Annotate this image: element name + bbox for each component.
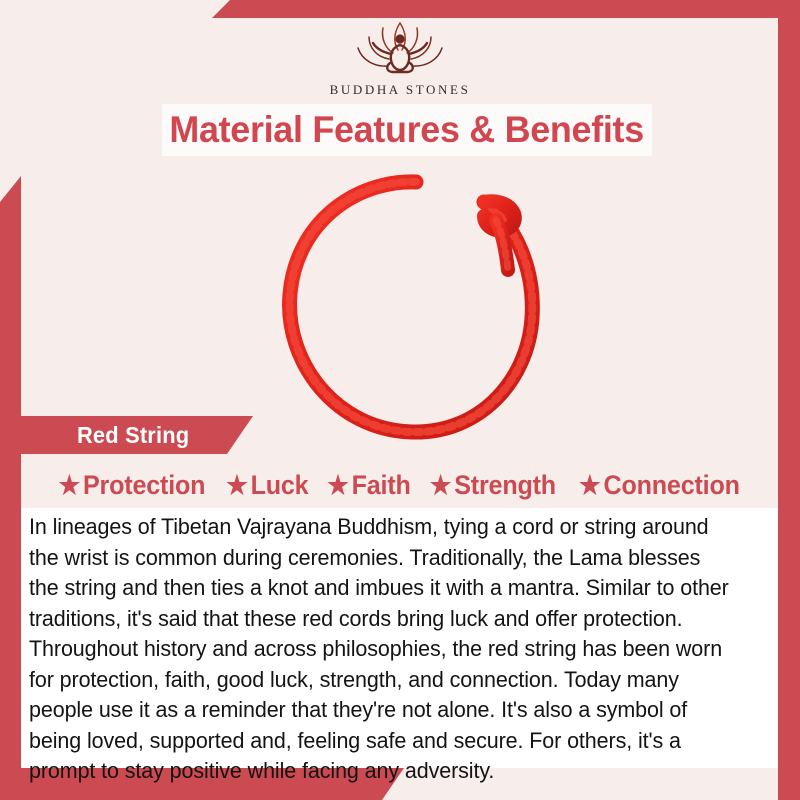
star-icon: ★ xyxy=(430,472,452,498)
benefits-row: ★ Protection ★ Luck ★ Faith ★ Strength ★… xyxy=(21,464,778,506)
lotus-meditation-figure-icon xyxy=(336,18,464,80)
infographic-page: BUDDHA STONES Material Features & Benefi… xyxy=(0,0,800,800)
page-title: Material Features & Benefits xyxy=(170,109,645,151)
frame-left-bar xyxy=(0,176,21,800)
benefit-label: Luck xyxy=(251,470,309,501)
benefit-label: Connection xyxy=(604,470,740,501)
benefit-item-protection: ★ Protection xyxy=(59,470,206,501)
product-name: Red String xyxy=(77,422,189,449)
benefit-item-connection: ★ Connection xyxy=(579,470,740,501)
star-icon: ★ xyxy=(59,472,81,498)
page-title-box: Material Features & Benefits xyxy=(162,104,652,156)
benefit-label: Faith xyxy=(351,470,410,501)
star-icon: ★ xyxy=(226,472,248,498)
benefit-label: Strength xyxy=(455,470,557,501)
star-icon: ★ xyxy=(327,472,349,498)
benefit-item-faith: ★ Faith xyxy=(327,470,411,501)
description-paragraph: In lineages of Tibetan Vajrayana Buddhis… xyxy=(29,512,733,787)
description-block: In lineages of Tibetan Vajrayana Buddhis… xyxy=(21,508,778,768)
product-name-banner: Red String xyxy=(21,416,253,454)
frame-right-bar xyxy=(778,0,800,800)
product-image xyxy=(244,158,584,458)
brand-logo: BUDDHA STONES xyxy=(0,18,800,102)
benefit-item-strength: ★ Strength xyxy=(430,470,556,501)
frame-top-bar xyxy=(212,0,800,18)
star-icon: ★ xyxy=(579,472,601,498)
brand-name: BUDDHA STONES xyxy=(330,82,471,98)
benefit-item-luck: ★ Luck xyxy=(226,470,308,501)
benefit-label: Protection xyxy=(83,470,205,501)
